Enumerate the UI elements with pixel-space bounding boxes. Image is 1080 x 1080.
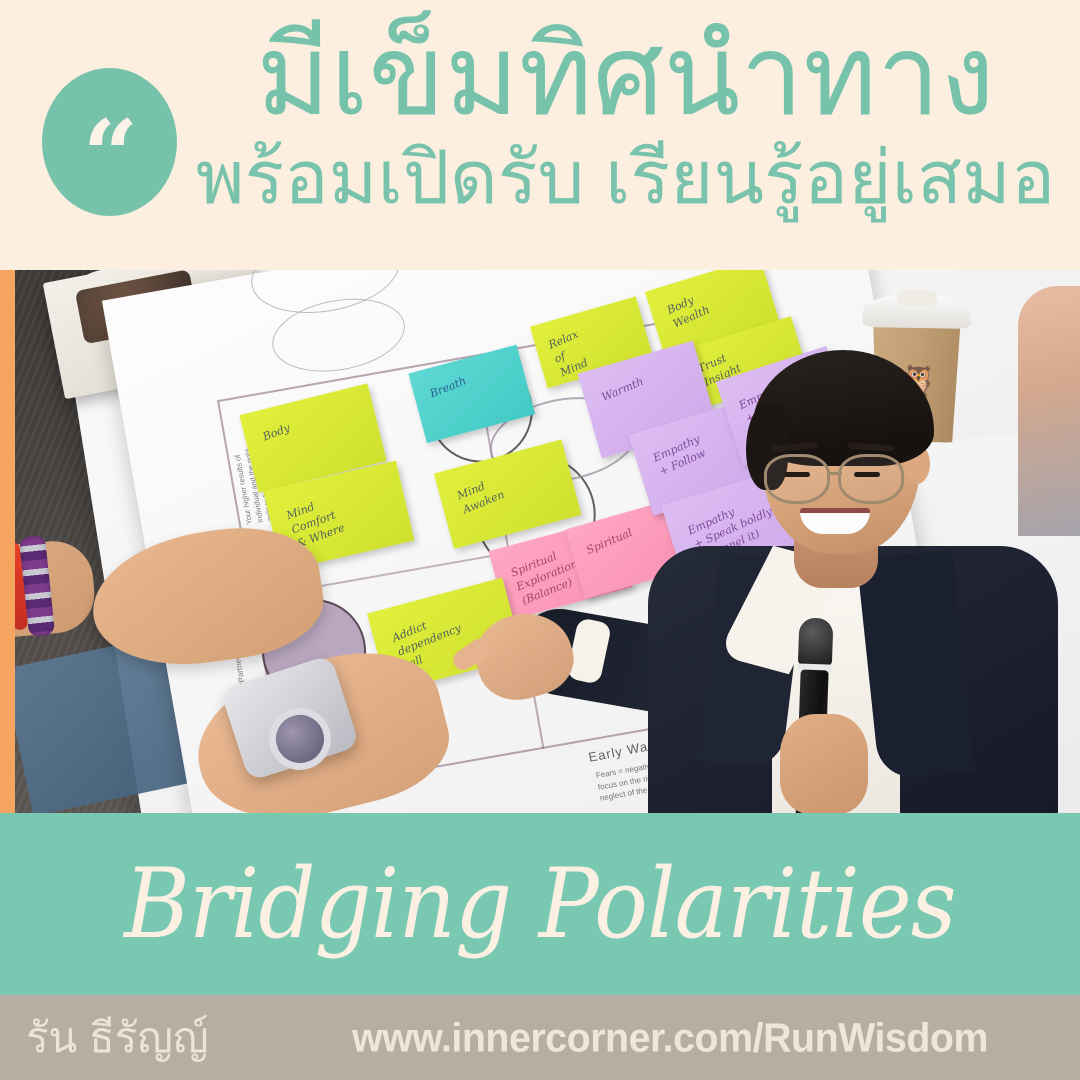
headline-line-1: มีเข็มทิศนำทาง (195, 8, 1056, 145)
headline-block: มีเข็มทิศนำทาง พร้อมเปิดรับ เรียนรู้อยู่… (195, 8, 1056, 216)
headline-line-2: พร้อมเปิดรับ เรียนรู้อยู่เสมอ (195, 139, 1056, 217)
quote-badge: “ (42, 68, 177, 216)
header-section: “ มีเข็มทิศนำทาง พร้อมเปิดรับ เรียนรู้อย… (0, 0, 1080, 270)
orange-accent-stripe (0, 270, 15, 813)
eyeglasses-icon (764, 454, 830, 504)
quote-card-canvas: “ มีเข็มทิศนำทาง พร้อมเปิดรับ เรียนรู้อย… (0, 0, 1080, 1080)
presenter (612, 318, 1080, 813)
workshop-photo: Early Warnings Fears = negative results … (0, 270, 1080, 813)
presenter-mic-hand (780, 714, 868, 813)
title-band: Bridging Polarities (0, 813, 1080, 995)
website-url[interactable]: www.innercorner.com/RunWisdom (352, 1017, 988, 1058)
footer-bar: รัน ธีรัญญ์ www.innercorner.com/RunWisdo… (0, 995, 1080, 1080)
page-title: Bridging Polarities (124, 856, 955, 952)
quote-open-icon: “ (83, 146, 136, 165)
author-name: รัน ธีรัญญ์ (26, 1017, 209, 1059)
